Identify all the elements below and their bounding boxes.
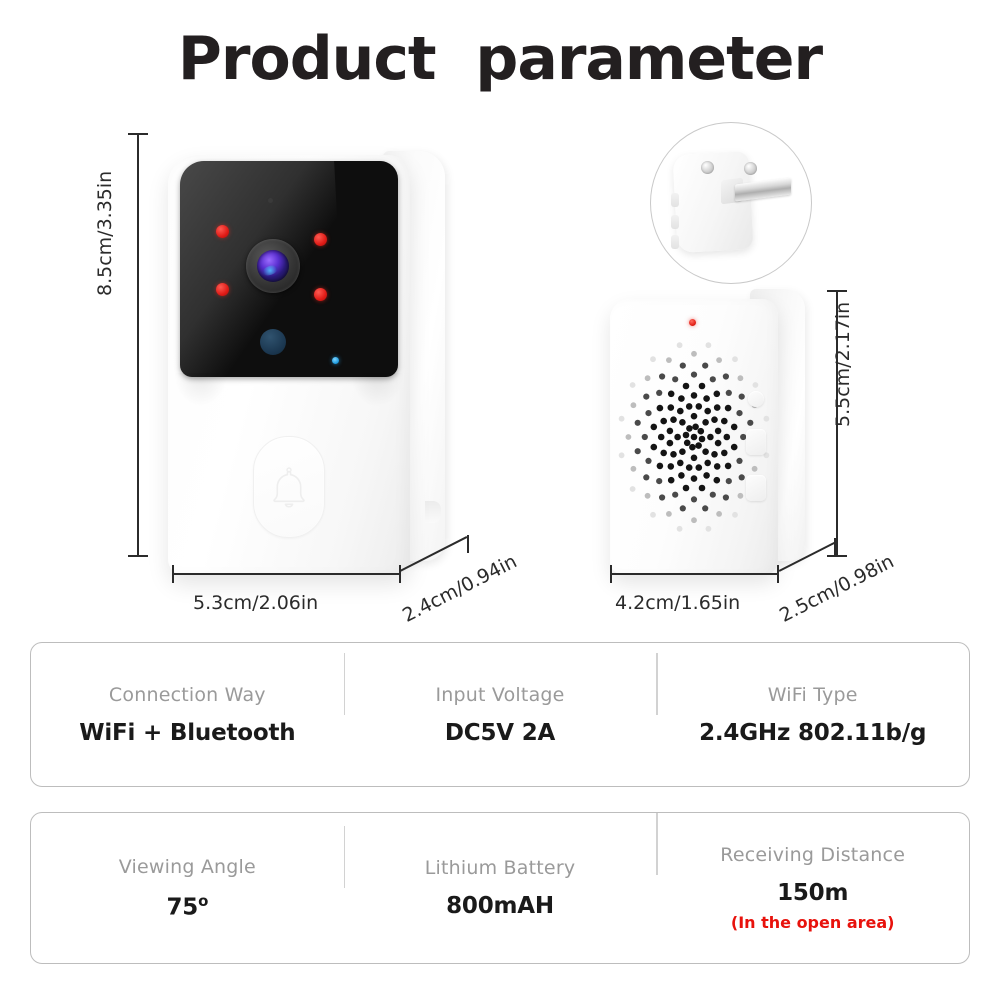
dimension-label-chime-height: 5.5cm/2.17in [832, 302, 854, 427]
spec-cell-input-voltage: Input Voltage DC5V 2A [344, 684, 657, 746]
chime-power-button[interactable] [748, 391, 764, 407]
dimension-line-chime-width [610, 573, 778, 575]
spec-label: Input Voltage [354, 684, 647, 706]
red-led-icon [689, 319, 696, 326]
doorbell-faceplate [180, 161, 398, 377]
camera-lens-icon [246, 239, 300, 293]
spec-label: Lithium Battery [354, 857, 647, 879]
blue-status-led-icon [332, 357, 339, 364]
spec-value: WiFi + Bluetooth [41, 720, 334, 746]
dimension-tick-left [610, 565, 612, 583]
microphone-hole-icon [268, 198, 273, 203]
infrared-led-icon [314, 288, 327, 301]
dimension-tick-right [399, 565, 401, 583]
dimension-tick-right [777, 565, 779, 583]
screw-icon [744, 162, 757, 175]
doorbell-side-notch [425, 501, 441, 523]
camera-iris [257, 250, 289, 282]
dimension-label-chime-width: 4.2cm/1.65in [615, 592, 740, 614]
spec-value: 150m [666, 880, 959, 906]
pir-sensor-icon [260, 329, 286, 355]
chime-volume-button[interactable] [746, 429, 766, 455]
spec-value-number: 75 [167, 894, 199, 920]
wireless-chime-image [600, 275, 840, 575]
spec-panel-secondary: Viewing Angle 75o Lithium Battery 800mAH… [30, 812, 970, 964]
chime-body [610, 299, 778, 575]
chime-melody-button[interactable] [746, 475, 766, 501]
spec-cell-lithium-battery: Lithium Battery 800mAH [344, 857, 657, 919]
plug-side-tab [671, 235, 679, 249]
plug-side-tab [671, 215, 679, 229]
spec-panel-primary: Connection Way WiFi + Bluetooth Input Vo… [30, 642, 970, 787]
doorbell-shoulder-left [174, 373, 228, 407]
dimension-tick-depth [834, 538, 836, 556]
ac-plug-callout [650, 122, 812, 284]
dimension-tick-top [128, 133, 148, 135]
dimension-label-doorbell-width: 5.3cm/2.06in [193, 592, 318, 614]
spec-value: DC5V 2A [354, 720, 647, 746]
product-illustration: 8.5cm/3.35in 5.3cm/2.06in 2.4cm/0.94in 5… [0, 110, 1000, 630]
spec-label: WiFi Type [666, 684, 959, 706]
plug-side-tab [671, 193, 679, 207]
infrared-led-icon [314, 233, 327, 246]
doorbell-body [168, 155, 410, 575]
spec-value: 75o [41, 892, 334, 921]
spec-label: Receiving Distance [666, 844, 959, 866]
spec-value: 800mAH [354, 893, 647, 919]
spec-note: (In the open area) [666, 913, 959, 932]
dimension-line-doorbell-height [137, 133, 139, 556]
doorbell-shoulder-right [350, 373, 404, 407]
spec-cell-viewing-angle: Viewing Angle 75o [31, 856, 344, 921]
doorbell-press-button[interactable] [253, 436, 325, 538]
infrared-led-icon [216, 225, 229, 238]
spec-value: 2.4GHz 802.11b/g [666, 720, 959, 746]
spec-cell-wifi-type: WiFi Type 2.4GHz 802.11b/g [656, 684, 969, 746]
spec-cell-connection-way: Connection Way WiFi + Bluetooth [31, 684, 344, 746]
spec-label: Viewing Angle [41, 856, 334, 878]
dimension-tick-depth [467, 535, 469, 553]
dimension-label-doorbell-height: 8.5cm/3.35in [94, 171, 116, 296]
degree-symbol: o [198, 892, 208, 910]
infrared-led-icon [216, 283, 229, 296]
screw-icon [701, 161, 714, 174]
page-title: Product parameter [0, 24, 1000, 94]
dimension-tick-bottom [827, 555, 847, 557]
bell-icon [267, 464, 311, 510]
dimension-line-doorbell-width [172, 573, 400, 575]
video-doorbell-image [168, 135, 458, 575]
spec-cell-receiving-distance: Receiving Distance 150m (In the open are… [656, 844, 969, 932]
dimension-tick-top [827, 290, 847, 292]
dimension-tick-left [172, 565, 174, 583]
dimension-tick-bottom [128, 555, 148, 557]
spec-label: Connection Way [41, 684, 334, 706]
